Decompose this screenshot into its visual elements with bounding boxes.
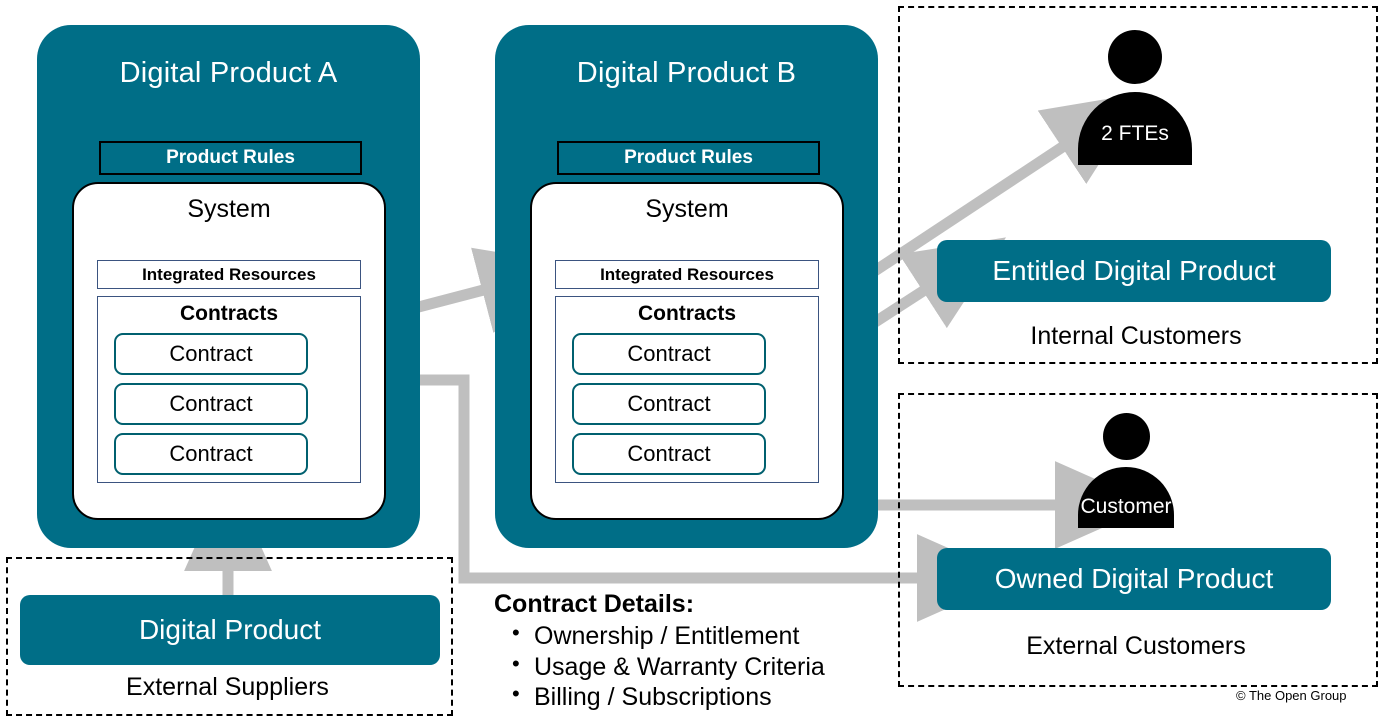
product-a-integrated-resources-label: Integrated Resources xyxy=(142,265,316,285)
digital-product-b-title: Digital Product B xyxy=(495,57,878,90)
digital-product-a-title: Digital Product A xyxy=(37,57,420,90)
product-a-contract-2[interactable]: Contract xyxy=(114,383,308,425)
external-suppliers-caption: External Suppliers xyxy=(6,673,449,702)
person-head-icon xyxy=(1108,30,1162,84)
internal-person-icon: 2 FTEs xyxy=(1078,30,1192,165)
contract-details-title: Contract Details: xyxy=(494,590,874,619)
product-a-system-label: System xyxy=(74,195,384,224)
product-a-system-box: System Integrated Resources Contracts Co… xyxy=(72,182,386,520)
owned-digital-product-label: Owned Digital Product xyxy=(995,563,1274,595)
product-b-contract-2[interactable]: Contract xyxy=(572,383,766,425)
digital-product-b-card[interactable]: Digital Product B Product Rules System I… xyxy=(495,25,878,548)
product-b-contract-3[interactable]: Contract xyxy=(572,433,766,475)
entitled-digital-product-box[interactable]: Entitled Digital Product xyxy=(937,240,1331,302)
product-a-contracts-label: Contracts xyxy=(98,302,360,326)
contract-label: Contract xyxy=(627,391,710,417)
external-customers-caption: External Customers xyxy=(898,632,1374,661)
product-b-contracts-label: Contracts xyxy=(556,302,818,326)
person-head-icon xyxy=(1103,413,1150,460)
product-b-integrated-resources-box: Integrated Resources xyxy=(555,260,819,289)
contract-details-item: Billing / Subscriptions xyxy=(512,682,874,713)
contract-label: Contract xyxy=(627,341,710,367)
product-a-integrated-resources-box: Integrated Resources xyxy=(97,260,361,289)
product-b-rules-label: Product Rules xyxy=(624,147,753,169)
owned-digital-product-box[interactable]: Owned Digital Product xyxy=(937,548,1331,610)
product-a-rules-label: Product Rules xyxy=(166,147,295,169)
supplier-digital-product-label: Digital Product xyxy=(139,614,321,646)
product-a-contract-1[interactable]: Contract xyxy=(114,333,308,375)
contract-details-block: Contract Details: Ownership / Entitlemen… xyxy=(494,590,874,713)
product-b-rules-box: Product Rules xyxy=(557,141,820,175)
copyright-notice: © The Open Group xyxy=(1236,688,1347,703)
contract-details-item: Usage & Warranty Criteria xyxy=(512,652,874,683)
external-person-label: Customer xyxy=(1078,495,1174,519)
product-b-contract-1[interactable]: Contract xyxy=(572,333,766,375)
contract-details-list: Ownership / Entitlement Usage & Warranty… xyxy=(494,621,874,713)
internal-person-label: 2 FTEs xyxy=(1078,122,1192,146)
product-b-contracts-box: Contracts Contract Contract Contract xyxy=(555,296,819,483)
product-b-system-box: System Integrated Resources Contracts Co… xyxy=(530,182,844,520)
contract-label: Contract xyxy=(169,391,252,417)
contract-label: Contract xyxy=(627,441,710,467)
digital-product-a-card[interactable]: Digital Product A Product Rules System I… xyxy=(37,25,420,548)
product-b-system-label: System xyxy=(532,195,842,224)
internal-customers-caption: Internal Customers xyxy=(898,322,1374,351)
contract-label: Contract xyxy=(169,441,252,467)
contract-details-item: Ownership / Entitlement xyxy=(512,621,874,652)
product-a-contract-3[interactable]: Contract xyxy=(114,433,308,475)
entitled-digital-product-label: Entitled Digital Product xyxy=(992,255,1275,287)
product-b-integrated-resources-label: Integrated Resources xyxy=(600,265,774,285)
product-a-contracts-box: Contracts Contract Contract Contract xyxy=(97,296,361,483)
external-person-icon: Customer xyxy=(1078,413,1174,528)
product-a-rules-box: Product Rules xyxy=(99,141,362,175)
diagram-canvas: Digital Product A Product Rules System I… xyxy=(0,0,1380,718)
supplier-digital-product-box[interactable]: Digital Product xyxy=(20,595,440,665)
contract-label: Contract xyxy=(169,341,252,367)
